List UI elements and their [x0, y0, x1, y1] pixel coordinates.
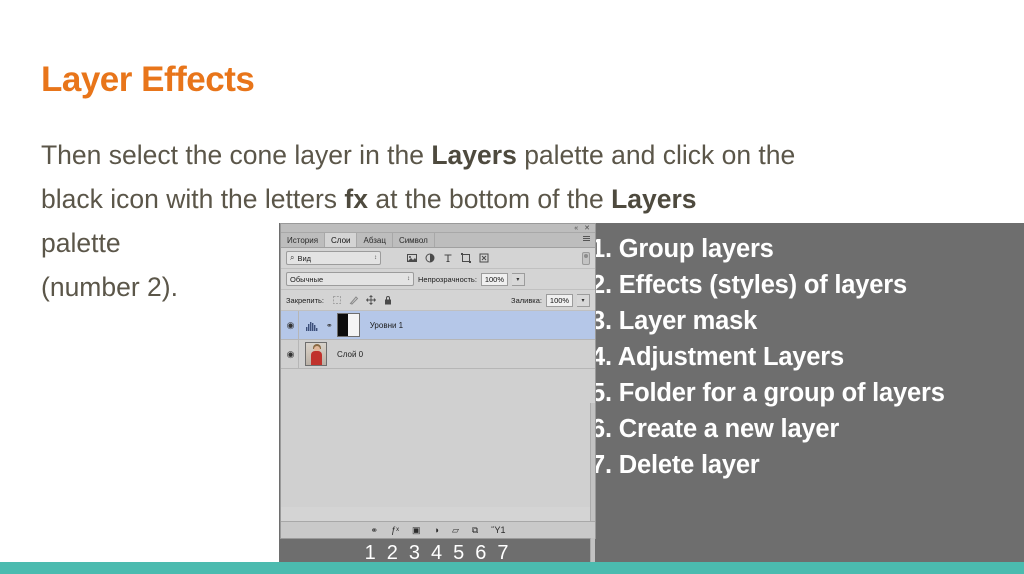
panel-titlebar: « ✕ [281, 224, 595, 233]
body-line2-pre: black icon with the letters [41, 184, 344, 214]
link-layers-icon[interactable]: ⚭ [371, 525, 379, 535]
fill-stepper-icon[interactable]: ▾ [577, 294, 590, 307]
layer-name-label[interactable]: Уровни 1 [370, 321, 403, 330]
legend-item-7: 7. Delete layer [591, 447, 945, 483]
tab-layers[interactable]: Слои [325, 233, 357, 247]
adjustment-filter-icon[interactable] [425, 253, 435, 263]
screenshot-image-block: 1. Group layers 2. Effects (styles) of l… [279, 223, 1024, 562]
layer-style-fx-icon[interactable]: ƒˣ [391, 525, 399, 535]
body-line2-bold2: Layers [611, 184, 696, 214]
legend-item-2: 2. Effects (styles) of layers [591, 267, 945, 303]
blend-mode-select[interactable]: Обычные ↕ [286, 272, 414, 286]
mask-white-area [348, 314, 359, 336]
opacity-input[interactable]: 100% [481, 273, 508, 286]
filter-icon-group [407, 253, 489, 263]
lock-label: Закрепить: [286, 296, 324, 305]
body-paragraph: Then select the cone layer in the Layers… [41, 133, 986, 221]
opacity-label: Непрозрачность: [418, 275, 477, 284]
legend-item-6: 6. Create a new layer [591, 411, 945, 447]
layers-list: ◉ ⚭ [281, 311, 595, 507]
body-line4: (number 2). [41, 272, 178, 303]
lock-position-icon[interactable] [366, 295, 376, 305]
layer-mask-thumbnail[interactable] [337, 313, 360, 337]
blend-mode-value: Обычные [290, 273, 323, 286]
search-icon: ⌕ [290, 253, 294, 263]
layers-panel-bottom-toolbar: ⚭ ƒˣ ▣ ◑ ▱ ⧉ Ὕ1 [281, 521, 595, 538]
panel-tab-bar: История Слои Абзац Символ [281, 233, 595, 248]
delete-layer-icon[interactable]: Ὕ1 [491, 525, 505, 535]
layer-filter-select[interactable]: ⌕ Вид ↕ [286, 251, 381, 265]
layer-image-thumbnail[interactable] [305, 342, 327, 366]
layer-filter-row: ⌕ Вид ↕ [281, 248, 595, 269]
filter-type-label: Вид [297, 254, 311, 263]
thumbnail-dress-shape [311, 351, 322, 366]
pixel-filter-icon[interactable] [407, 253, 417, 263]
layer-mask-link-icon[interactable]: ⚭ [326, 321, 333, 330]
tab-paragraph[interactable]: Абзац [357, 233, 392, 247]
fill-label: Заливка: [511, 296, 542, 305]
add-layer-mask-icon[interactable]: ▣ [412, 525, 421, 535]
new-adjustment-layer-icon[interactable]: ◑ [434, 525, 439, 535]
lock-row: Закрепить: Заливка: 100% [281, 290, 595, 311]
table-row[interactable]: ◉ Слой 0 [281, 340, 595, 369]
levels-histogram-thumbnail-icon[interactable] [305, 317, 321, 333]
lock-transparent-pixels-icon[interactable] [332, 295, 342, 305]
body-line2-mid: at the bottom of the [368, 184, 611, 214]
layer-name-label[interactable]: Слой 0 [337, 350, 363, 359]
page-title: Layer Effects [41, 62, 254, 99]
panel-menu-icon[interactable] [583, 236, 592, 244]
tab-history[interactable]: История [281, 233, 325, 247]
body-line2-bold: fx [344, 184, 368, 214]
fill-input[interactable]: 100% [546, 294, 573, 307]
body-line1-pre: Then select the cone layer in the [41, 140, 431, 170]
legend-item-1: 1. Group layers [591, 231, 945, 267]
slide-canvas: Layer Effects Then select the cone layer… [0, 0, 1024, 574]
body-line3: palette [41, 228, 121, 259]
footer-accent-bar [0, 562, 1024, 574]
shape-filter-icon[interactable] [461, 253, 471, 263]
tab-character[interactable]: Символ [393, 233, 435, 247]
body-line1-post: palette and click on the [517, 140, 795, 170]
legend-list: 1. Group layers 2. Effects (styles) of l… [591, 231, 945, 483]
body-line1-bold: Layers [431, 140, 516, 170]
blend-mode-row: Обычные ↕ Непрозрачность: 100% ▾ [281, 269, 595, 290]
legend-item-3: 3. Layer mask [591, 303, 945, 339]
table-row[interactable]: ◉ ⚭ [281, 311, 595, 340]
chevron-updown-icon: ↕ [374, 255, 377, 261]
layer-visibility-eye-icon[interactable]: ◉ [283, 340, 299, 368]
smart-object-filter-icon[interactable] [479, 253, 489, 263]
photoshop-layers-panel: « ✕ История Слои Абзац Символ ⌕ Вид ↕ [280, 223, 596, 539]
filter-enable-toggle[interactable] [582, 252, 590, 265]
lock-icon-group [332, 295, 393, 305]
legend-item-5: 5. Folder for a group of layers [591, 375, 945, 411]
new-group-folder-icon[interactable]: ▱ [452, 525, 459, 535]
lock-image-pixels-icon[interactable] [349, 295, 359, 305]
mask-black-area [338, 314, 349, 336]
opacity-stepper-icon[interactable]: ▾ [512, 273, 525, 286]
new-layer-icon[interactable]: ⧉ [472, 525, 478, 535]
chevron-updown-icon: ↕ [407, 273, 410, 286]
panel-window-buttons[interactable]: « ✕ [574, 225, 592, 232]
layer-visibility-eye-icon[interactable]: ◉ [283, 311, 299, 339]
lock-all-icon[interactable] [383, 295, 393, 305]
legend-item-4: 4. Adjustment Layers [591, 339, 945, 375]
type-filter-icon[interactable] [443, 253, 453, 263]
